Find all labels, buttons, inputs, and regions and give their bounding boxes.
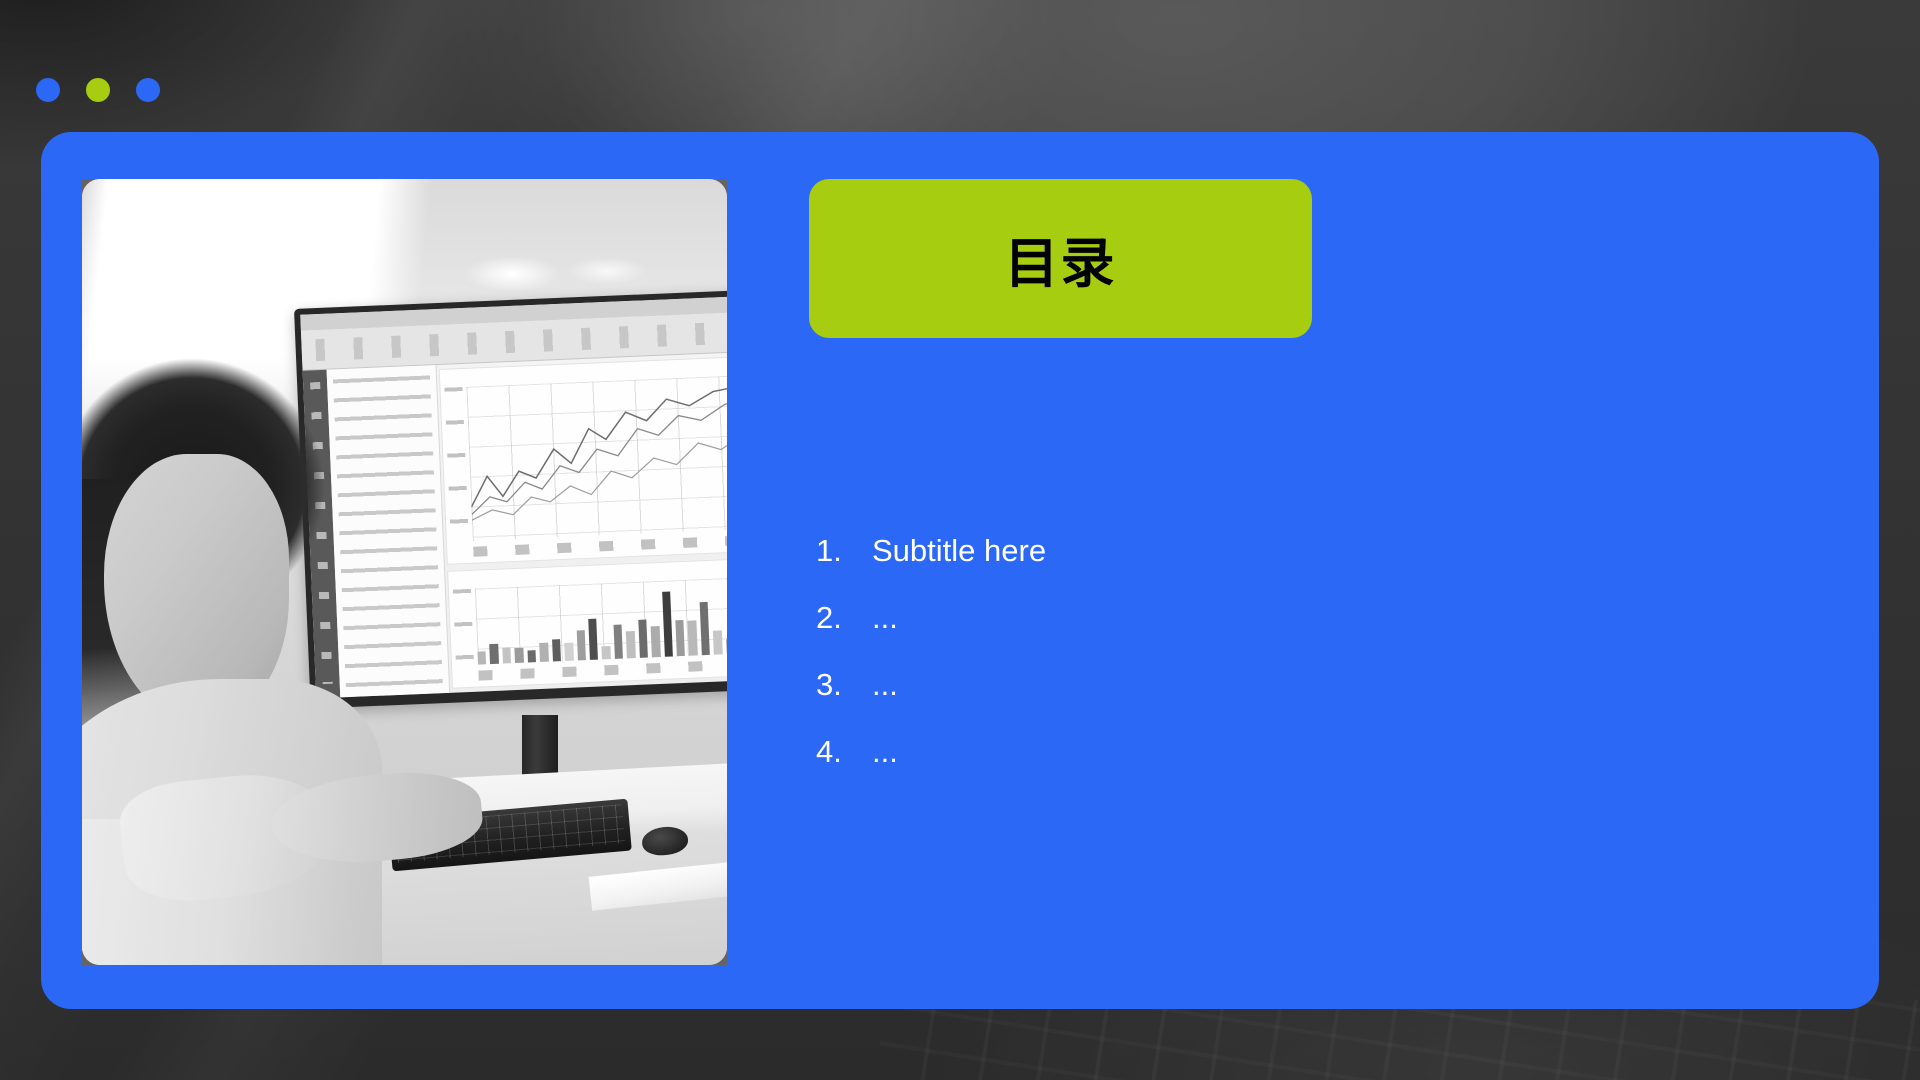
photo-screen-line-chart [439,356,727,565]
photo-monitor-screen [300,296,727,699]
slide-photo [82,179,727,965]
title-card: 目录 [809,179,1312,338]
list-item-label: Subtitle here [872,535,1046,566]
window-dots [36,78,160,102]
photo-bar-chart-yaxis [453,589,474,666]
desktop-backdrop: 目录 1. Subtitle here 2. ... 3. ... 4. ... [0,0,1920,1080]
list-item-label: ... [872,669,898,700]
photo-monitor [294,289,727,708]
list-item[interactable]: 2. ... [816,602,1436,633]
photo-bar-chart-bars [475,579,727,665]
window-dot-blue-left[interactable] [36,78,60,102]
window-dot-lime[interactable] [86,78,110,102]
photo-screen-bar-chart [447,558,727,689]
photo-line-chart-yaxis [444,387,468,542]
list-item[interactable]: 4. ... [816,736,1436,767]
table-of-contents: 1. Subtitle here 2. ... 3. ... 4. ... [816,535,1436,803]
list-item-label: ... [872,736,898,767]
list-item[interactable]: 3. ... [816,669,1436,700]
slide-card: 目录 1. Subtitle here 2. ... 3. ... 4. ... [41,132,1879,1009]
list-item-number: 1. [816,535,872,566]
window-dot-blue-right[interactable] [136,78,160,102]
list-item-number: 2. [816,602,872,633]
photo-line-chart-series [466,375,727,528]
list-item-number: 3. [816,669,872,700]
list-item-number: 4. [816,736,872,767]
list-item-label: ... [872,602,898,633]
page-title: 目录 [1005,219,1117,298]
list-item[interactable]: 1. Subtitle here [816,535,1436,566]
slide-content-column: 目录 1. Subtitle here 2. ... 3. ... 4. ... [768,150,1879,1009]
